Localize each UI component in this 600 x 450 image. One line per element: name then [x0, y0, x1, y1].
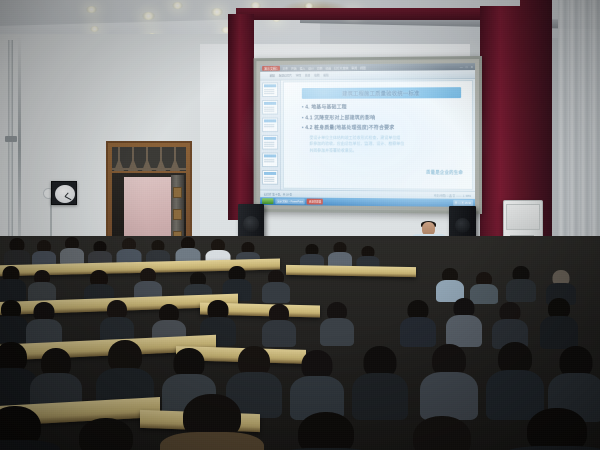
- audience-member: [390, 416, 494, 450]
- audience-member: [0, 406, 60, 450]
- right-loudspeaker-driver: [455, 218, 470, 233]
- slide-bullet: 4.2 桩身质量(地基处理强度)不符合要求: [302, 124, 467, 131]
- slide-bullet: 4. 地基与基础工程: [302, 103, 467, 110]
- audience-member: [486, 342, 544, 418]
- audience-member: [28, 270, 56, 302]
- slide-note-paragraph: 受设计单位主体结构竣工验收形式检查，建设单位组 织参加的验收，应由总包单位、监理…: [309, 135, 467, 154]
- slide-thumbnail[interactable]: [262, 135, 278, 150]
- ribbon-paragraph[interactable]: 段落: [305, 73, 310, 77]
- left-loudspeaker-driver: [243, 216, 259, 232]
- slide-thumbnail[interactable]: [262, 170, 278, 185]
- clock-minute-hand: [65, 196, 72, 200]
- ppt-menu-design[interactable]: 设计: [308, 66, 314, 70]
- ppt-window-maximize[interactable]: □: [466, 65, 468, 69]
- audience-member: [436, 268, 464, 301]
- ppt-menu-home[interactable]: 开始: [291, 66, 297, 70]
- taskbar-item-explorer[interactable]: 资源管理器: [307, 199, 323, 205]
- slide-bullet-list: 4. 地基与基础工程 4.1 沉降变形对上部建筑的影响 4.2 桩身质量(地基处…: [289, 103, 468, 131]
- stage-curtain-left: [228, 14, 254, 220]
- wall-corner-edge: [18, 36, 21, 256]
- audience-member: [58, 418, 154, 450]
- audience-area: [0, 236, 600, 450]
- audience-member: [0, 300, 28, 342]
- taskbar-item-powerpoint[interactable]: 演示文稿1 - PowerPoint: [275, 198, 305, 204]
- ppt-ribbon: 粘贴 新建幻灯片 字体 段落 绘图 编辑: [260, 70, 475, 80]
- audience-member: [446, 298, 482, 346]
- slide-bullet: 4.1 沉降变形对上部建筑的影响: [302, 114, 467, 121]
- slide-thumbnail[interactable]: [262, 82, 278, 97]
- ceiling-downlight: [172, 2, 183, 9]
- ppt-slide-counter: 幻灯片 第 4 张，共 18 张: [264, 192, 292, 196]
- ribbon-font[interactable]: 字体: [296, 73, 301, 77]
- ppt-slide-canvas[interactable]: 建筑工程施工质量验收统一标准 4. 地基与基础工程 4.1 沉降变形对上部建筑的…: [283, 80, 473, 190]
- audience-member: [502, 408, 600, 450]
- audience-member: [60, 237, 84, 264]
- ceiling-downlight: [142, 12, 155, 20]
- ceiling-downlight: [86, 6, 97, 13]
- ppt-menu-insert[interactable]: 插入: [300, 66, 306, 70]
- audience-member: [320, 302, 354, 345]
- desk-row: [286, 265, 416, 277]
- audience-member: [420, 344, 478, 418]
- lecture-hall-photo: 演示文稿1 文件 开始 插入 设计 切换 动画 幻灯片放映 审阅 视图 — □ …: [0, 0, 600, 450]
- ac-upper-panel: [506, 204, 540, 230]
- audience-member: [506, 266, 536, 301]
- slide-thumbnail[interactable]: [262, 117, 278, 132]
- slide-thumbnail[interactable]: [262, 153, 278, 168]
- ribbon-editing[interactable]: 编辑: [323, 73, 328, 77]
- slide-footer-slogan: 质量是企业的生命: [426, 170, 463, 176]
- wall-pipe-joint: [5, 136, 17, 142]
- audience-member: [4, 238, 30, 264]
- audience-member: [100, 300, 134, 344]
- ribbon-drawing[interactable]: 绘图: [314, 73, 319, 77]
- audience-member: [160, 394, 264, 450]
- clock-face: [55, 185, 75, 203]
- ppt-menu-file[interactable]: 文件: [282, 66, 288, 70]
- ppt-zoom-controls[interactable]: 中文(中国) □ 品 豆 ─── ＋ 68%: [434, 193, 471, 197]
- audience-member: [290, 350, 344, 418]
- ribbon-new-slide[interactable]: 新建幻灯片: [279, 73, 292, 77]
- slide-title: 建筑工程施工质量验收统一标准: [302, 87, 461, 99]
- ppt-document-title: 演示文稿1: [262, 66, 279, 71]
- transom-grille: [112, 147, 186, 171]
- audience-member: [540, 298, 578, 348]
- audience-member: [32, 240, 56, 266]
- slide-note-line: 共同参加并签署验收意见。: [309, 147, 467, 154]
- projection-screen: 演示文稿1 文件 开始 插入 设计 切换 动画 幻灯片放映 审阅 视图 — □ …: [254, 56, 482, 214]
- audience-member: [400, 300, 436, 346]
- start-button[interactable]: [262, 198, 273, 204]
- ppt-slide-thumbnail-pane[interactable]: [260, 80, 281, 189]
- ppt-menu-slideshow[interactable]: 幻灯片放映: [334, 66, 348, 70]
- audience-member: [262, 304, 296, 346]
- ppt-menu-review[interactable]: 审阅: [351, 66, 357, 70]
- audience-member: [0, 266, 26, 300]
- ppt-menu-transitions[interactable]: 切换: [317, 66, 323, 70]
- projection-screen-surface: 演示文稿1 文件 开始 插入 设计 切换 动画 幻灯片放映 审阅 视图 — □ …: [260, 63, 475, 207]
- windows-taskbar[interactable]: 演示文稿1 - PowerPoint 资源管理器 中 ◁ ▣ 15:42: [260, 197, 475, 207]
- system-tray[interactable]: 中 ◁ ▣ 15:42: [453, 200, 473, 206]
- audience-member: [276, 412, 376, 450]
- audience-member: [262, 270, 290, 302]
- ppt-window-minimize[interactable]: —: [460, 65, 463, 69]
- audience-member: [352, 346, 408, 418]
- ribbon-paste[interactable]: 粘贴: [270, 74, 275, 78]
- ppt-window-close[interactable]: ✕: [471, 65, 473, 69]
- ppt-menu-animations[interactable]: 动画: [325, 66, 331, 70]
- wall-clock-icon: [51, 181, 77, 205]
- slide-thumbnail[interactable]: [262, 100, 278, 115]
- audience-member: [26, 302, 62, 346]
- ppt-menu-view[interactable]: 视图: [360, 66, 366, 70]
- ceiling-downlight: [211, 8, 223, 16]
- ceiling-downlight: [90, 26, 99, 32]
- audience-member: [328, 242, 352, 268]
